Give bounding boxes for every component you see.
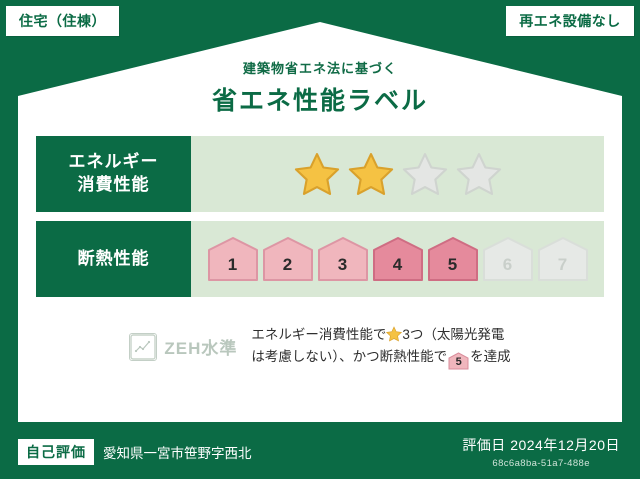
- energy-label-line1: エネルギー: [69, 152, 159, 171]
- zeh-desc-part3: は考慮しない）、かつ断熱性能で: [251, 349, 447, 364]
- insulation-level-number: 5: [448, 255, 457, 282]
- footer-left: 自己評価 愛知県一宮市笹野字西北: [18, 439, 252, 465]
- insulation-level-number: 3: [338, 255, 347, 282]
- energy-performance-label: エネルギー 消費性能: [36, 136, 191, 212]
- star-rating: [191, 136, 604, 212]
- evaluation-date: 評価日 2024年12月20日: [462, 435, 620, 455]
- star-empty-icon: [401, 151, 449, 197]
- insulation-level-number: 4: [393, 255, 402, 282]
- star-filled-icon: [347, 151, 395, 197]
- zeh-block: ZEH水準 エネルギー消費性能で3つ（太陽光発電は考慮しない）、かつ断熱性能で5…: [18, 324, 622, 370]
- insulation-performance-row: 断熱性能 1234567: [36, 221, 604, 297]
- energy-performance-row: エネルギー 消費性能: [36, 136, 604, 212]
- zeh-label: ZEH水準: [164, 334, 237, 359]
- insulation-level-number: 7: [558, 255, 567, 282]
- inline-house-badge: 5: [448, 352, 469, 370]
- zeh-mark: ZEH水準: [129, 333, 237, 361]
- building-type-badge: 住宅（住棟）: [6, 6, 119, 36]
- inline-star-icon: [386, 326, 402, 342]
- zeh-desc-part2: 3つ（太陽光発電: [402, 327, 504, 342]
- insulation-level-7: 7: [537, 236, 589, 282]
- insulation-performance-label: 断熱性能: [36, 221, 191, 297]
- star-empty-icon: [455, 151, 503, 197]
- insulation-level-2: 2: [262, 236, 314, 282]
- renewable-equipment-badge: 再エネ設備なし: [506, 6, 634, 36]
- insulation-level-number: 1: [228, 255, 237, 282]
- energy-label-line2: 消費性能: [78, 175, 150, 194]
- property-address: 愛知県一宮市笹野字西北: [103, 442, 252, 462]
- label-panel: 建築物省エネ法に基づく 省エネ性能ラベル RentRise エネルギー 消費性能…: [18, 22, 622, 422]
- insulation-level-number: 2: [283, 255, 292, 282]
- energy-performance-label: 住宅（住棟） 再エネ設備なし 建築物省エネ法に基づく 省エネ性能ラベル Rent…: [0, 0, 640, 479]
- insulation-level-number: 6: [503, 255, 512, 282]
- page-title: 省エネ性能ラベル: [18, 81, 622, 117]
- footer-right: 評価日 2024年12月20日 68c6a8ba-51a7-488e: [462, 435, 620, 469]
- insulation-level-6: 6: [482, 236, 534, 282]
- insulation-level-4: 4: [372, 236, 424, 282]
- insulation-scale: 1234567: [207, 236, 589, 282]
- zeh-desc-part1: エネルギー消費性能で: [251, 327, 386, 342]
- rating-rows: エネルギー 消費性能 断熱性能 1234567: [36, 136, 604, 297]
- self-evaluation-badge: 自己評価: [18, 439, 94, 465]
- zeh-icon: [129, 333, 157, 361]
- footer: 自己評価 愛知県一宮市笹野字西北 評価日 2024年12月20日 68c6a8b…: [0, 422, 640, 479]
- insulation-level-1: 1: [207, 236, 259, 282]
- insulation-scale-wrap: 1234567: [191, 221, 604, 297]
- zeh-desc-part4: を達成: [470, 349, 511, 364]
- inline-house-number: 5: [448, 352, 469, 373]
- insulation-level-5: 5: [427, 236, 479, 282]
- insulation-level-3: 3: [317, 236, 369, 282]
- star-filled-icon: [293, 151, 341, 197]
- document-id: 68c6a8ba-51a7-488e: [462, 458, 620, 469]
- zeh-description: エネルギー消費性能で3つ（太陽光発電は考慮しない）、かつ断熱性能で5を達成: [251, 324, 510, 370]
- title-subtitle: 建築物省エネ法に基づく: [18, 58, 622, 77]
- title-block: 建築物省エネ法に基づく 省エネ性能ラベル: [18, 58, 622, 117]
